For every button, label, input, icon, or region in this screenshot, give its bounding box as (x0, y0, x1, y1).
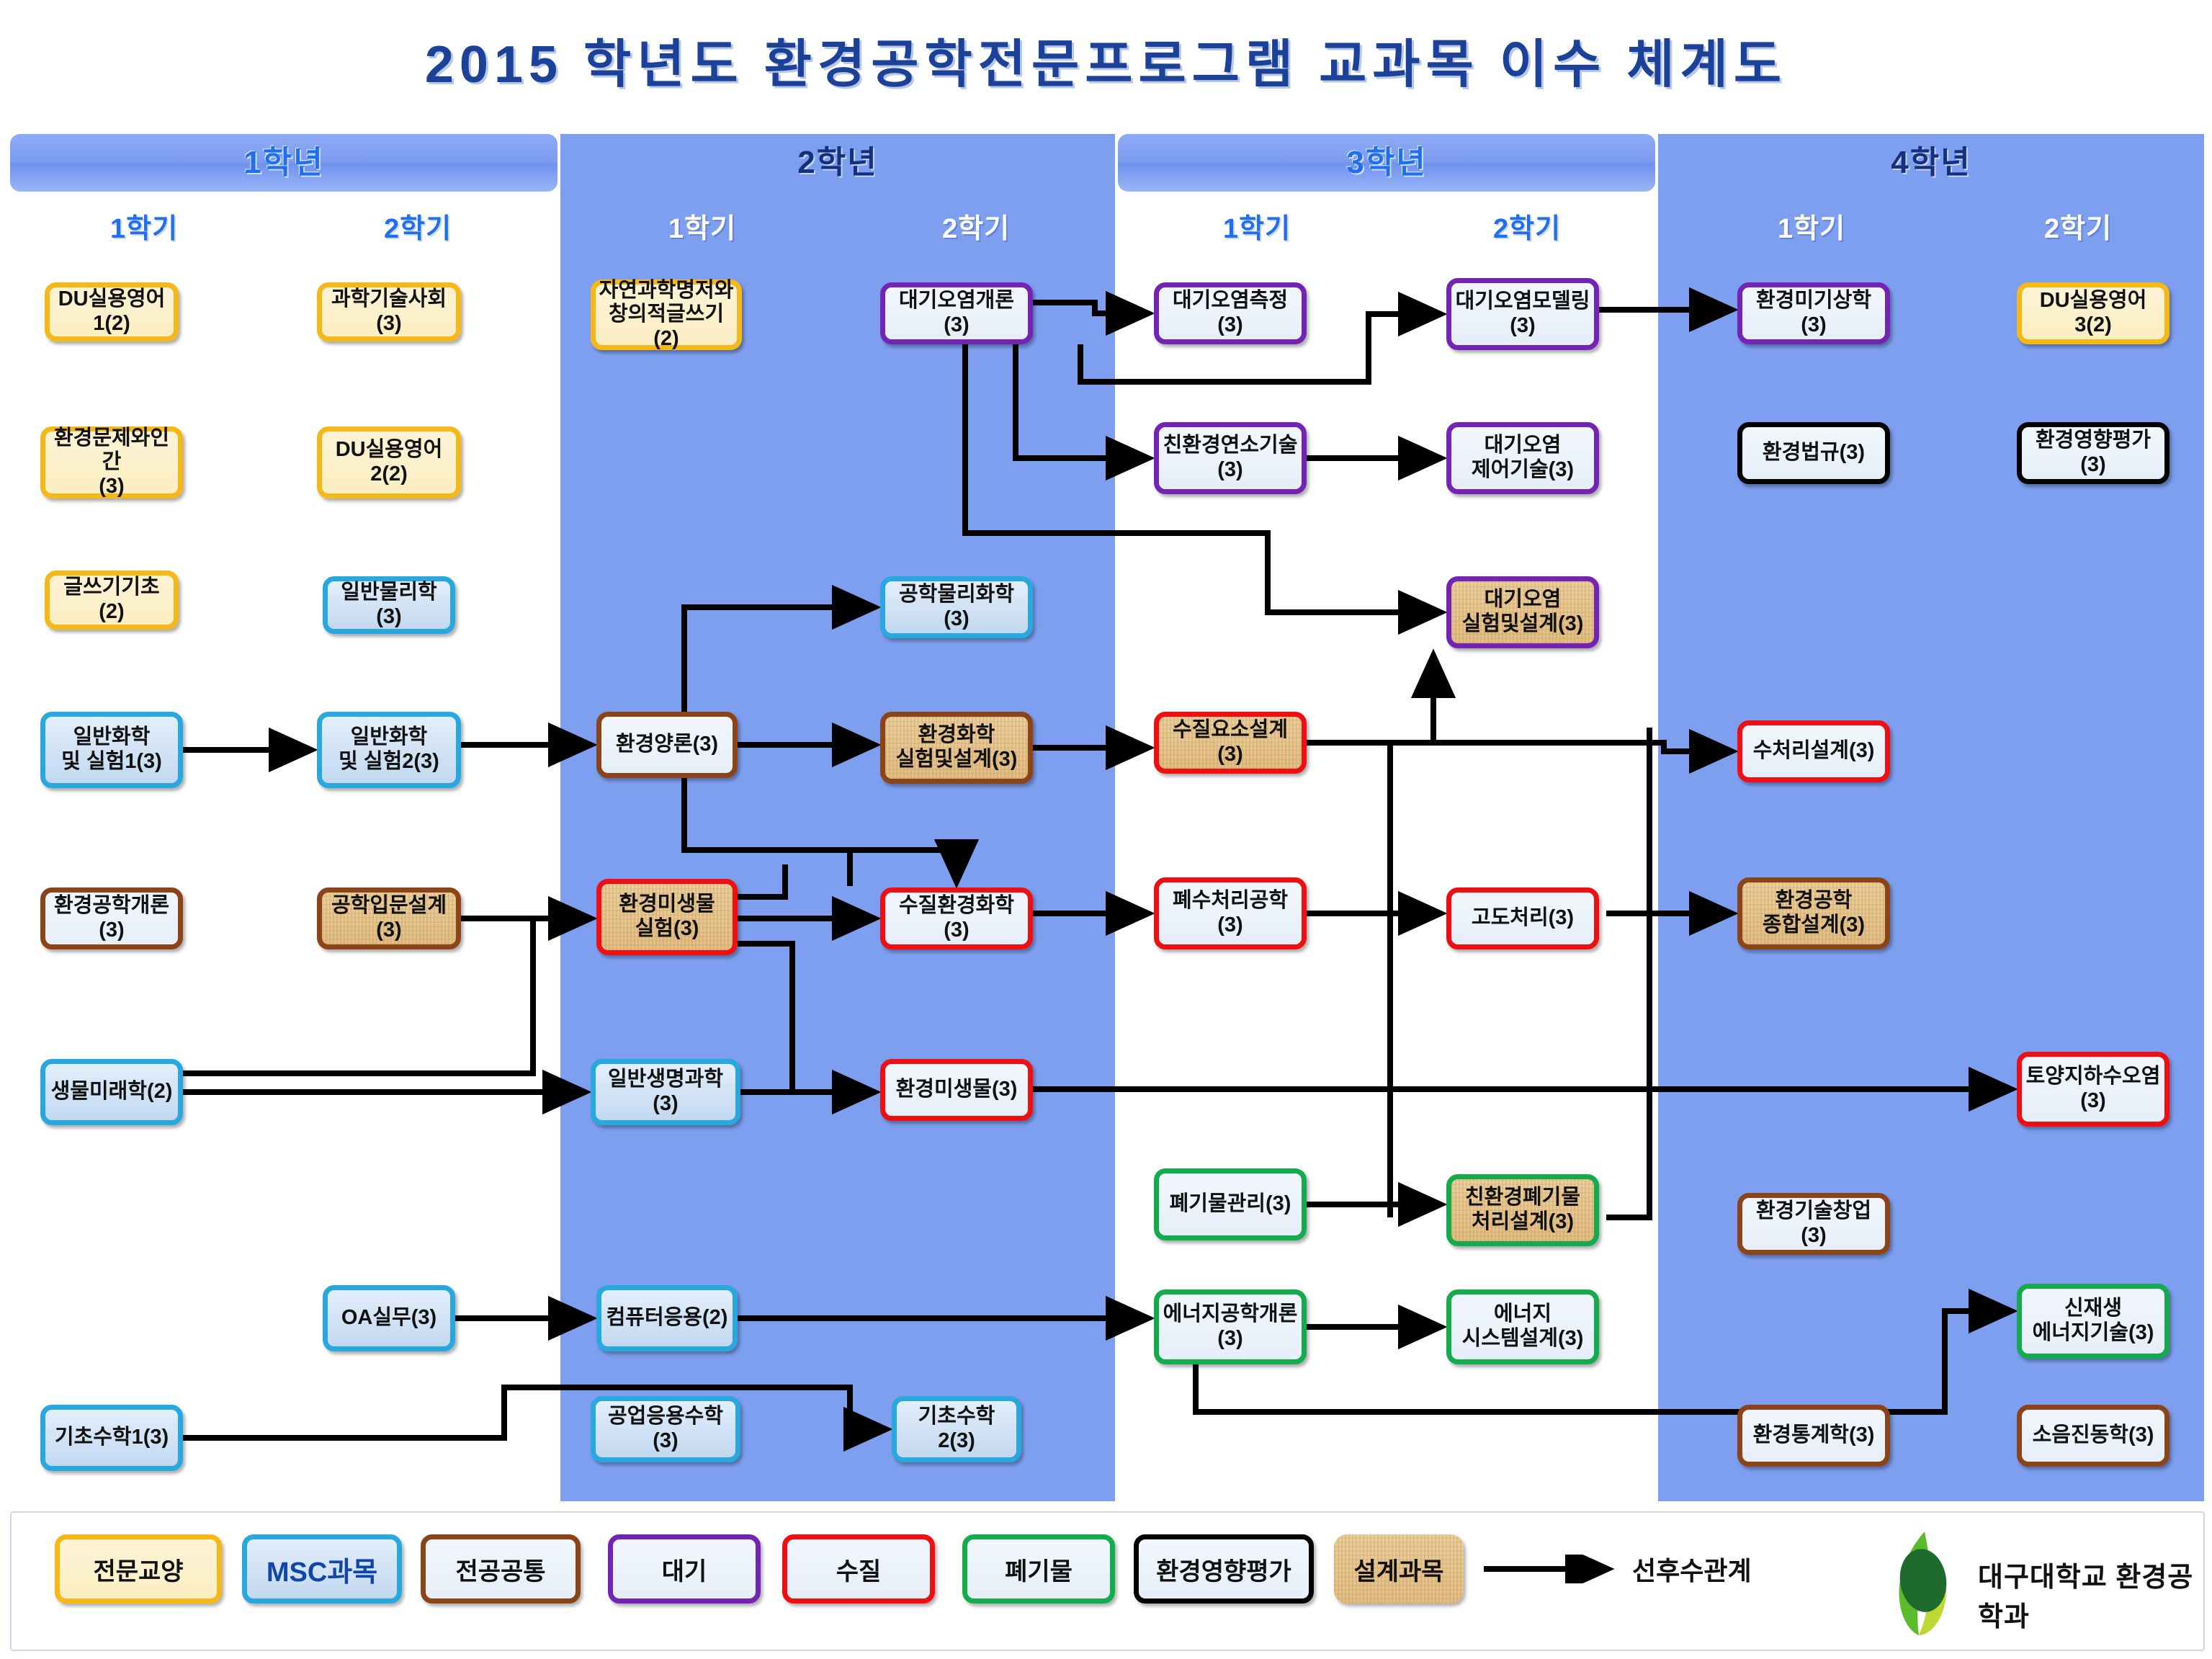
year-header-3: 3학년 (1118, 134, 1655, 192)
university-leaf-logo-icon (1863, 1530, 1971, 1637)
course-box-wqdes[interactable]: 수질요소설계(3) (1154, 712, 1307, 774)
course-box-waterchem[interactable]: 수질환경화학(3) (880, 887, 1033, 949)
curriculum-flowchart-page: 2015 학년도 환경공학전문프로그램 교과목 이수 체계도 1학년 2학년 3… (0, 0, 2212, 1659)
course-box-eia[interactable]: 환경영향평가(3) (2017, 422, 2170, 484)
course-box-envlaw[interactable]: 환경법규(3) (1737, 422, 1890, 484)
legend-item-msc: MSC과목 (242, 1534, 402, 1604)
course-box-airmodel[interactable]: 대기오염모델링 (3) (1446, 278, 1599, 350)
course-box-wastewtr[interactable]: 폐수처리공학(3) (1154, 877, 1307, 949)
course-box-write[interactable]: 글쓰기기초(2) (45, 571, 179, 630)
course-box-airintro[interactable]: 대기오염개론(3) (880, 282, 1033, 344)
course-box-wastemgt[interactable]: 폐기물관리(3) (1154, 1168, 1307, 1240)
legend-item-gen: 전문교양 (55, 1534, 222, 1604)
course-box-du3[interactable]: DU실용영어3(2) (2017, 282, 2170, 344)
course-box-envhum[interactable]: 환경문제와인간 (3) (40, 426, 183, 498)
course-box-du1[interactable]: DU실용영어1(2) (45, 282, 179, 341)
semester-header-4-1: 1학기 (1678, 209, 1945, 249)
course-box-math2[interactable]: 기초수학2(3) (892, 1396, 1021, 1462)
year-label-4: 4학년 (1658, 134, 2204, 192)
course-box-engphchem[interactable]: 공학물리화학(3) (880, 576, 1033, 638)
semester-header-4-2: 2학기 (1952, 209, 2204, 249)
course-box-energysys[interactable]: 에너지 시스템설계(3) (1446, 1289, 1599, 1364)
course-box-micromet[interactable]: 환경미기상학(3) (1737, 282, 1890, 344)
course-box-envintro[interactable]: 환경공학개론(3) (40, 887, 183, 949)
course-box-phys[interactable]: 일반물리학(3) (323, 576, 455, 634)
legend-item-design: 설계과목 (1334, 1534, 1464, 1604)
course-box-engmath[interactable]: 공업응용수학(3) (591, 1396, 740, 1462)
course-box-natsci[interactable]: 자연과학명저와 창의적글쓰기(2) (591, 280, 742, 350)
course-box-soilgw[interactable]: 토양지하수오염 (3) (2017, 1052, 2170, 1127)
legend-arrow-label: 선후수관계 (1632, 1550, 1752, 1588)
year-label-3: 3학년 (1118, 134, 1655, 192)
page-title: 2015 학년도 환경공학전문프로그램 교과목 이수 체계도 (0, 22, 2212, 97)
legend-item-water: 수질 (782, 1534, 935, 1604)
course-box-envcomp[interactable]: 환경공학 종합설계(3) (1737, 877, 1890, 949)
semester-header-3-2: 2학기 (1397, 209, 1657, 249)
semester-header-2-2: 2학기 (843, 209, 1109, 249)
university-department-label: 대구대학교 환경공학과 (1978, 1555, 2203, 1634)
course-box-engdes[interactable]: 공학입문설계(3) (317, 887, 461, 949)
year-header-2: 2학년 (560, 134, 1115, 192)
course-box-airmeas[interactable]: 대기오염측정(3) (1154, 282, 1307, 344)
course-box-chem2[interactable]: 일반화학 및 실험2(3) (317, 712, 461, 788)
course-box-envstart[interactable]: 환경기술창업(3) (1737, 1193, 1890, 1255)
course-box-chem1[interactable]: 일반화학 및 실험1(3) (40, 712, 183, 788)
course-box-biofut[interactable]: 생물미래학(2) (40, 1059, 183, 1125)
legend-item-waste: 폐기물 (962, 1534, 1115, 1604)
course-box-airexdes[interactable]: 대기오염 실험및설계(3) (1446, 576, 1599, 648)
course-box-renewable[interactable]: 신재생 에너지기술(3) (2017, 1284, 2170, 1359)
legend-item-air: 대기 (608, 1534, 761, 1604)
course-box-oa[interactable]: OA실무(3) (323, 1285, 455, 1351)
semester-header-1-2: 2학기 (288, 209, 547, 249)
course-box-envlec[interactable]: 환경양론(3) (596, 712, 738, 778)
course-box-genlife[interactable]: 일반생명과학(3) (591, 1059, 740, 1125)
legend: 전문교양MSC과목전공공통대기수질폐기물환경영향평가설계과목 선후수관계 대구대… (10, 1511, 2205, 1651)
prerequisite-arrow-icon (1481, 1555, 1625, 1583)
course-box-du2[interactable]: DU실용영어2(2) (317, 426, 461, 498)
semester-header-1-1: 1학기 (14, 209, 274, 249)
course-box-scisoc[interactable]: 과학기술사회(3) (317, 282, 461, 341)
course-box-energyint[interactable]: 에너지공학개론 (3) (1154, 1289, 1307, 1364)
year-label-1: 1학년 (10, 134, 558, 192)
course-box-airctrl[interactable]: 대기오염 제어기술(3) (1446, 422, 1599, 494)
course-box-math1[interactable]: 기초수학1(3) (40, 1405, 183, 1471)
course-box-envchemex[interactable]: 환경화학 실험및설계(3) (880, 712, 1033, 784)
course-box-compapp[interactable]: 컴퓨터응용(2) (596, 1285, 738, 1351)
course-box-ecocomb[interactable]: 친환경연소기술 (3) (1154, 422, 1307, 494)
course-box-envstat[interactable]: 환경통계학(3) (1737, 1405, 1890, 1467)
year-label-2: 2학년 (560, 134, 1115, 192)
course-box-ecowaste[interactable]: 친환경폐기물 처리설계(3) (1446, 1174, 1599, 1246)
year-header-4: 4학년 (1658, 134, 2204, 192)
course-box-advtreat[interactable]: 고도처리(3) (1446, 887, 1599, 949)
course-box-envmicex[interactable]: 환경미생물 실험(3) (596, 879, 738, 955)
course-box-wtrdes[interactable]: 수처리설계(3) (1737, 720, 1890, 782)
course-box-envmic[interactable]: 환경미생물(3) (880, 1059, 1033, 1121)
course-box-noise[interactable]: 소음진동학(3) (2017, 1405, 2170, 1467)
legend-item-eia: 환경영향평가 (1134, 1534, 1314, 1604)
year-header-1: 1학년 (10, 134, 558, 192)
legend-item-core: 전공공통 (421, 1534, 581, 1604)
semester-header-3-1: 1학기 (1124, 209, 1390, 249)
semester-header-2-1: 1학기 (569, 209, 836, 249)
